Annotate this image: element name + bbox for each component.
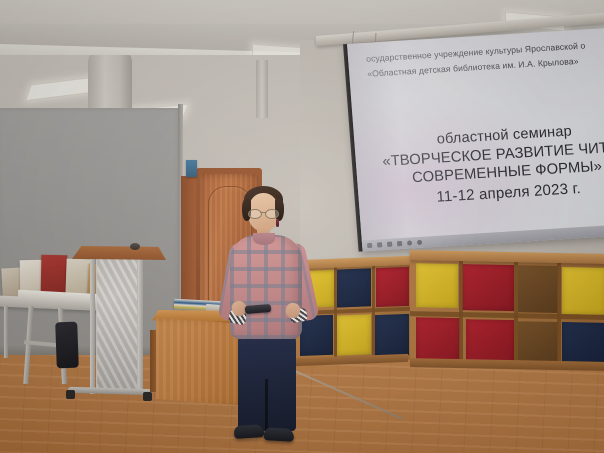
shelf-divider xyxy=(372,263,375,361)
shelf-divider xyxy=(514,259,518,367)
bag xyxy=(55,322,79,369)
lens-left xyxy=(248,209,262,219)
shelf-empty-slot xyxy=(518,265,558,313)
search-icon[interactable] xyxy=(377,242,382,247)
shelf-cube xyxy=(337,314,371,355)
shelf-cube xyxy=(376,267,409,307)
shelf-cube xyxy=(375,314,409,356)
caster-wheel xyxy=(66,390,75,399)
slide-header: осударственное учреждение культуры Яросл… xyxy=(366,34,604,81)
shelf-unit-b xyxy=(410,257,604,369)
door-sign xyxy=(186,160,197,177)
shelf-cube xyxy=(337,268,371,307)
shelf-divider xyxy=(557,260,561,368)
photo-scene: осударственное учреждение культуры Яросл… xyxy=(0,0,604,453)
screen-surface: осударственное учреждение культуры Яросл… xyxy=(347,26,604,252)
earring xyxy=(276,219,279,227)
trouser-seam xyxy=(265,379,268,433)
shelf-cube xyxy=(416,317,460,364)
presenter xyxy=(212,183,318,453)
table-leg xyxy=(4,306,8,358)
wall-pillar xyxy=(256,60,268,118)
lens-right xyxy=(265,209,279,219)
collar xyxy=(253,233,275,245)
shelf-divider xyxy=(459,258,463,366)
start-icon[interactable] xyxy=(367,243,372,248)
lectern-post xyxy=(138,256,143,394)
folder-icon[interactable] xyxy=(397,241,402,246)
shoe xyxy=(234,424,265,439)
shoe xyxy=(264,427,295,442)
lectern-panel xyxy=(96,256,138,391)
eyeglasses-icon xyxy=(248,209,279,217)
shelf-cube xyxy=(416,263,458,308)
app-icon[interactable] xyxy=(417,240,422,245)
lectern-top xyxy=(72,246,166,260)
task-view-icon[interactable] xyxy=(387,242,392,247)
caster-wheel xyxy=(143,392,152,401)
lectern-knob xyxy=(130,243,140,250)
lectern-post xyxy=(90,254,95,394)
projection-screen: осударственное учреждение культуры Яросл… xyxy=(347,26,604,252)
shelf-cube xyxy=(462,264,514,311)
shelf-cube xyxy=(562,267,604,315)
shelf-divider xyxy=(334,265,337,363)
browser-icon[interactable] xyxy=(407,240,412,245)
